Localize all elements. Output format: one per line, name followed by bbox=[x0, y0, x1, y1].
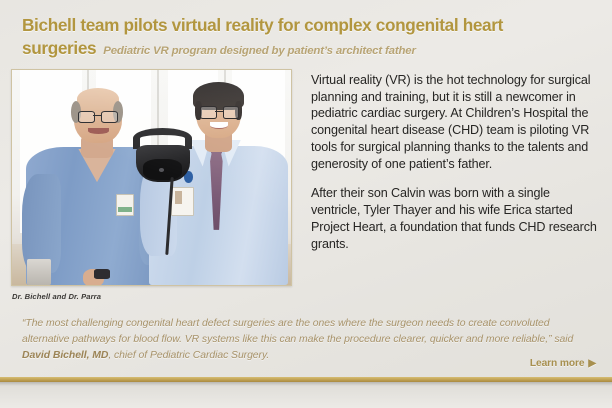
learn-more-label: Learn more bbox=[530, 358, 584, 369]
quote-attribution-name: David Bichell, MD bbox=[22, 350, 108, 361]
page-subtitle: Pediatric VR program designed by patient… bbox=[103, 45, 416, 57]
body-paragraph-2: After their son Calvin was born with a s… bbox=[311, 185, 602, 252]
article-photo bbox=[11, 69, 292, 286]
learn-more-link[interactable]: Learn more ▶ bbox=[530, 358, 596, 369]
photo-scene bbox=[12, 70, 291, 285]
article-body: Virtual reality (VR) is the hot technolo… bbox=[311, 72, 602, 252]
quote-text-part-1: “The most challenging congenital heart d… bbox=[22, 318, 573, 345]
photo-caption: Dr. Bichell and Dr. Parra bbox=[12, 292, 101, 301]
chevron-right-icon: ▶ bbox=[588, 359, 596, 369]
quote-text-part-2: , chief of Pediatric Cardiac Surgery. bbox=[108, 350, 269, 361]
pull-quote: “The most challenging congenital heart d… bbox=[22, 316, 594, 364]
body-paragraph-1: Virtual reality (VR) is the hot technolo… bbox=[311, 72, 602, 172]
article-card: Bichell team pilots virtual reality for … bbox=[0, 0, 612, 408]
article-header: Bichell team pilots virtual reality for … bbox=[22, 14, 598, 59]
page-title: Bichell team pilots virtual reality for … bbox=[22, 14, 598, 59]
photo-gloss bbox=[12, 70, 291, 285]
title-line-1: Bichell team pilots virtual reality for … bbox=[22, 15, 458, 35]
divider-shadow bbox=[0, 382, 612, 386]
